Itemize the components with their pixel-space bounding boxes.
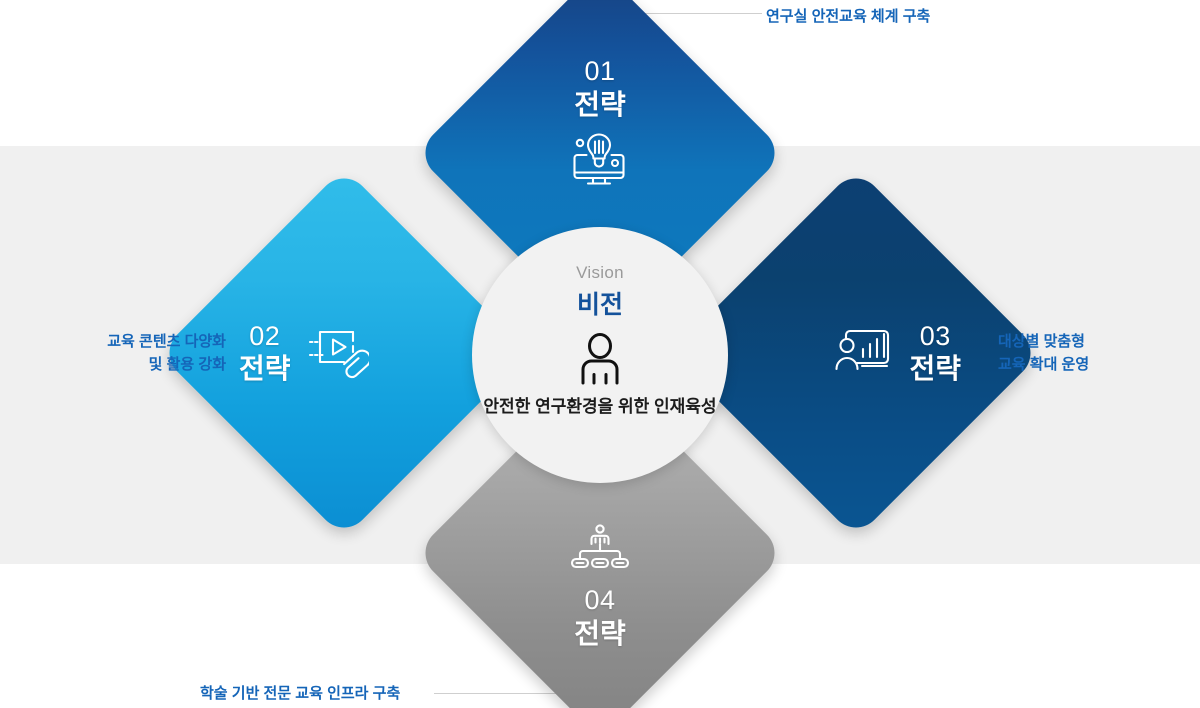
strategy-01-number: 01 bbox=[574, 56, 626, 88]
monitor-lightbulb-icon bbox=[569, 131, 631, 189]
strategy-04-word: 전략 bbox=[574, 617, 626, 650]
vision-description: 안전한 연구환경을 위한 인재육성 bbox=[483, 396, 716, 418]
strategy-01-word: 전략 bbox=[574, 88, 626, 121]
strategy-03-content: 03 전략 bbox=[725, 222, 987, 484]
caption-strategy-01: 연구실 안전교육 체계 구축 bbox=[766, 6, 930, 29]
vision-strategy-diagram: 01 전략 bbox=[0, 0, 1200, 708]
org-chart-icon bbox=[569, 523, 631, 575]
vision-label-ko: 비전 bbox=[577, 285, 623, 321]
vision-label-en: Vision bbox=[576, 263, 624, 283]
strategy-02-content: 02 전략 bbox=[213, 222, 475, 484]
caption-strategy-03: 대상별 맞춤형 교육 확대 운영 bbox=[998, 331, 1089, 376]
vision-circle[interactable]: Vision 비전 안전한 연구환경을 위한 인재육성 bbox=[472, 227, 728, 483]
strategy-04-number: 04 bbox=[574, 585, 626, 617]
video-attachment-icon bbox=[305, 324, 369, 382]
person-chart-board-icon bbox=[833, 325, 895, 381]
strategy-03-word: 전략 bbox=[909, 352, 961, 385]
strategy-03-number: 03 bbox=[909, 321, 961, 353]
caption-strategy-02: 교육 콘텐츠 다양화 및 활용 강화 bbox=[88, 331, 226, 376]
strategy-02-word: 전략 bbox=[239, 352, 291, 385]
caption-strategy-04: 학술 기반 전문 교육 인프라 구축 bbox=[200, 683, 400, 706]
strategy-02-number: 02 bbox=[239, 321, 291, 353]
person-icon bbox=[574, 333, 626, 390]
